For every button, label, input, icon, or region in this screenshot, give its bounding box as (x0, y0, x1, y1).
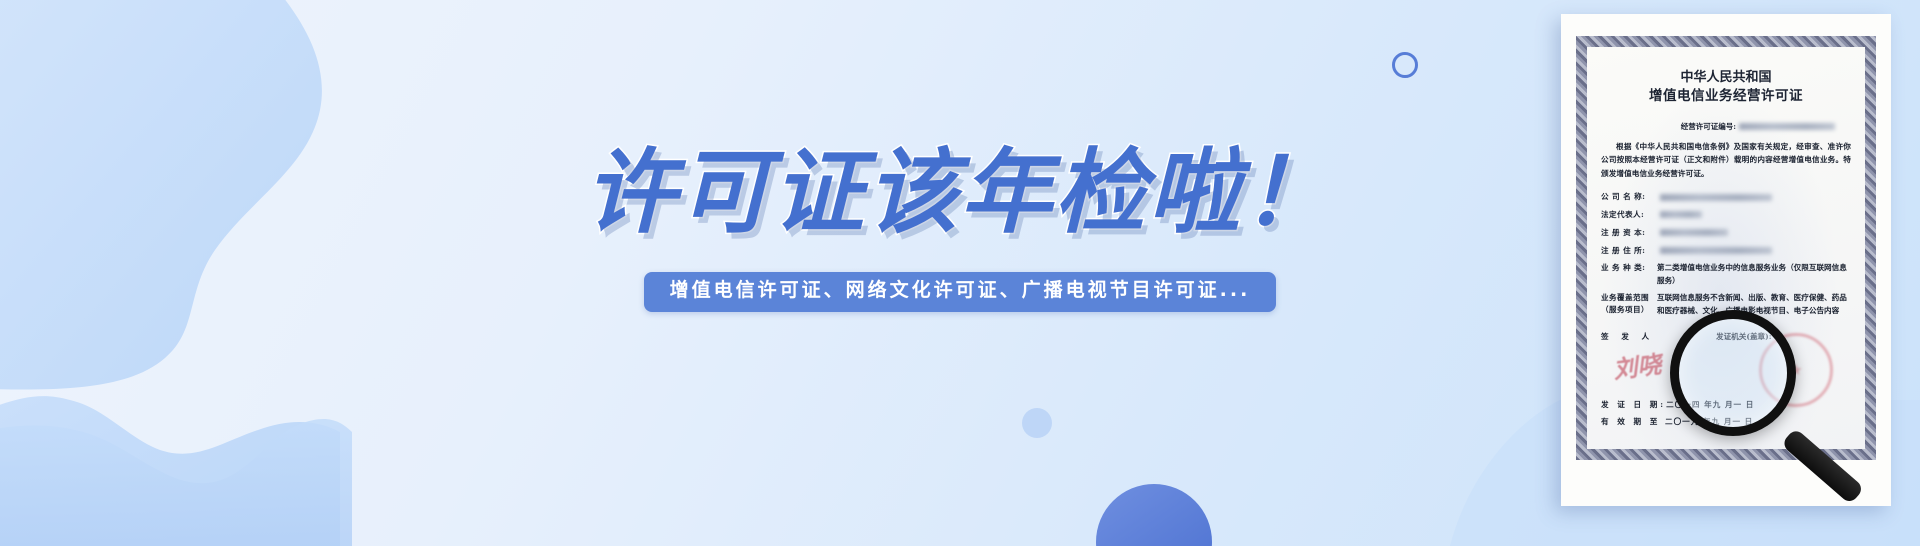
certificate-title: 中华人民共和国 增值电信业务经营许可证 (1601, 69, 1851, 107)
field-label: 注 册 住 所: (1601, 245, 1657, 257)
field-value (1657, 191, 1851, 203)
expiry-date-label: 有 效 期 至 (1601, 416, 1665, 427)
blob-bottom-left-back (0, 396, 340, 546)
field-value: 第二类增值电信业务中的信息服务业务（仅限互联网信息服务） (1657, 262, 1851, 287)
field-label: 业 务 种 类: (1601, 262, 1657, 274)
solid-circle-icon (1096, 484, 1212, 546)
certificate-fields: 公 司 名 称: 法定代表人: 注 册 资 本: 注 册 住 所: (1601, 191, 1851, 317)
field-label: 业务覆盖范围 （服务项目） (1601, 292, 1657, 315)
certificate-field-address: 注 册 住 所: (1601, 245, 1851, 257)
promo-banner: 许可证该年检啦！ 增值电信许可证、网络文化许可证、广播电视节目许可证... 中华… (0, 0, 1920, 546)
blob-bottom-left-front (0, 419, 352, 546)
magnifier-icon (1670, 310, 1796, 436)
small-dot-icon (1022, 408, 1052, 438)
banner-headline: 许可证该年检啦！ (584, 118, 1336, 251)
certificate-field-legal-rep: 法定代表人: (1601, 209, 1851, 221)
field-value (1657, 209, 1851, 221)
certificate-field-capital: 注 册 资 本: (1601, 227, 1851, 239)
issue-date-label: 发 证 日 期: (1601, 399, 1666, 410)
certificate-title-line2: 增值电信业务经营许可证 (1601, 87, 1851, 106)
certificate-title-line1: 中华人民共和国 (1601, 69, 1851, 87)
field-label: 法定代表人: (1601, 209, 1657, 221)
field-value (1657, 245, 1851, 257)
banner-subtitle-pill: 增值电信许可证、网络文化许可证、广播电视节目许可证... (644, 272, 1277, 312)
scope-label-line1: 业务覆盖范围 (1601, 293, 1649, 302)
field-label: 公 司 名 称: (1601, 191, 1657, 203)
ring-circle-icon (1392, 52, 1418, 78)
certificate-field-company: 公 司 名 称: (1601, 191, 1851, 203)
field-value (1657, 227, 1851, 239)
certificate-body-text: 根据《中华人民共和国电信条例》及国家有关规定，经审查、准许你公司按照本经营许可证… (1601, 140, 1851, 181)
certificate-number-redacted (1739, 123, 1835, 130)
certificate-number-row: 经营许可证编号: (1601, 121, 1851, 132)
scope-label-line2: （服务项目） (1601, 305, 1649, 314)
certificate-field-service-type: 业 务 种 类: 第二类增值电信业务中的信息服务业务（仅限互联网信息服务） (1601, 262, 1851, 287)
field-label: 注 册 资 本: (1601, 227, 1657, 239)
certificate-number-label: 经营许可证编号: (1681, 122, 1736, 131)
